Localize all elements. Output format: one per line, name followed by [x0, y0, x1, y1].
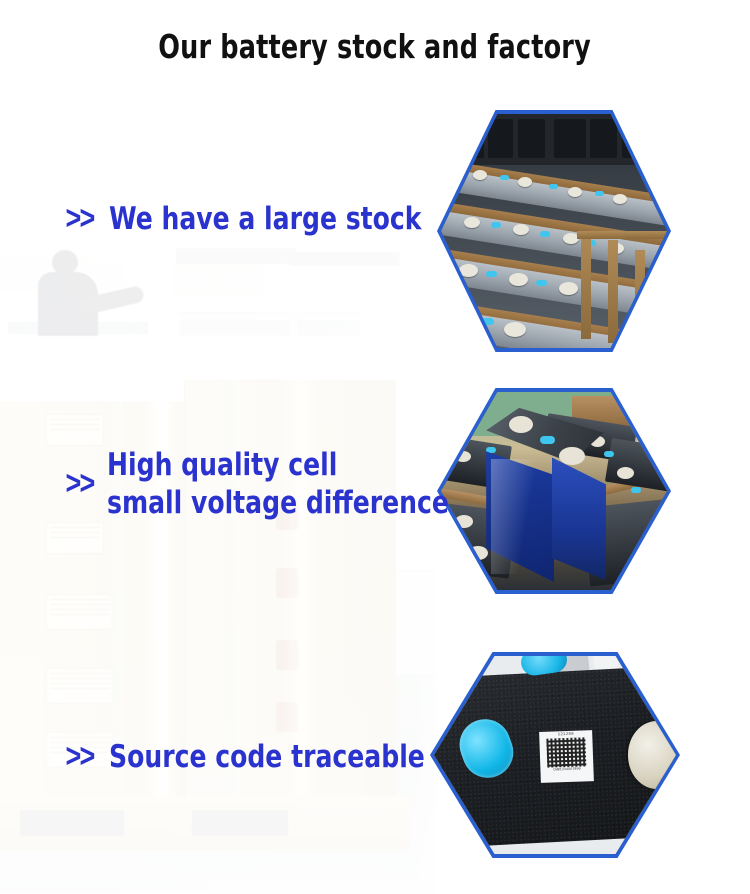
traceability-label: 121289 CWB1234567890	[540, 730, 595, 783]
feature-item-traceable: >> Source code traceable	[64, 738, 460, 776]
product-feature-banner: Our battery stock and factory >> We have…	[0, 0, 750, 894]
feature-line: Source code traceable	[109, 738, 425, 776]
feature-text-stock: We have a large stock	[109, 200, 421, 238]
feature-text-traceable: Source code traceable	[109, 738, 425, 776]
hex-photo-stock	[437, 110, 671, 352]
header: Our battery stock and factory	[0, 0, 750, 92]
chevron-right-double-icon: >>	[66, 465, 94, 503]
label-code-bottom: CWB1234567890	[554, 768, 581, 773]
page-title: Our battery stock and factory	[159, 27, 592, 66]
qr-code-icon	[547, 738, 586, 769]
feature-line: small voltage difference	[107, 484, 449, 522]
hex-photo-traceability: 121289 CWB1234567890	[430, 652, 680, 858]
hex-photo-clip: 121289 CWB1234567890	[434, 656, 676, 854]
feature-text-quality: High quality cell small voltage differen…	[107, 446, 449, 522]
chevron-right-double-icon: >>	[66, 738, 94, 776]
feature-line: We have a large stock	[109, 200, 421, 238]
feature-item-stock: >> We have a large stock	[64, 200, 456, 238]
feature-line: High quality cell	[107, 446, 449, 484]
hex-photo-clip	[441, 114, 667, 348]
feature-item-quality: >> High quality cell small voltage diffe…	[64, 446, 487, 522]
chevron-right-double-icon: >>	[66, 200, 94, 238]
photo-cell-top-qr-label: 121289 CWB1234567890	[434, 656, 676, 854]
photo-battery-cell-rows	[441, 114, 667, 348]
factory-background-image	[0, 86, 460, 396]
